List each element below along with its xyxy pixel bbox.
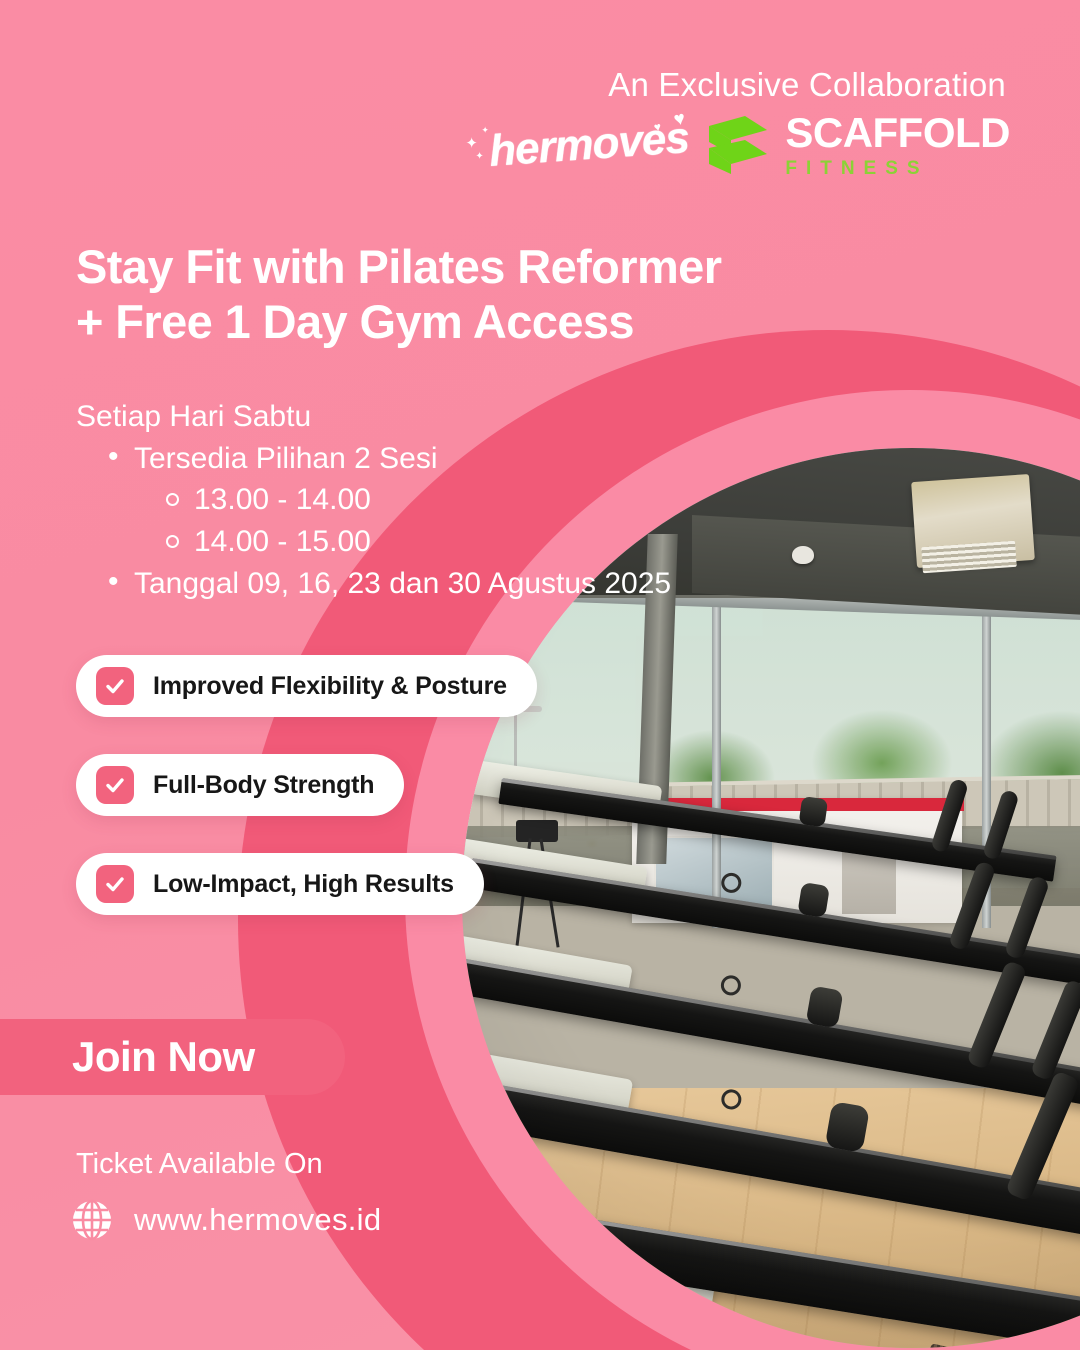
sparkle-icon: ✦: [465, 136, 478, 151]
schedule-item: Tersedia Pilihan 2 Sesi 13.00 - 14.00 14…: [104, 440, 671, 562]
poster-canvas: An Exclusive Collaboration ✦ ✦ ✦ hermove…: [0, 0, 1080, 1350]
partner-logos: ✦ ✦ ✦ hermoves ♥ ♥ SCAFFOLD FITNESS: [465, 112, 1010, 178]
schedule-item: Tanggal 09, 16, 23 dan 30 Agustus 2025: [104, 565, 671, 603]
benefits-list: Improved Flexibility & Posture Full-Body…: [76, 655, 537, 952]
hermoves-logo: ✦ ✦ ✦ hermoves ♥ ♥: [465, 114, 683, 176]
scaffold-subtitle: FITNESS: [785, 159, 1010, 178]
headline-line-1: Stay Fit with Pilates Reformer: [76, 240, 721, 295]
schedule-item-label: Tersedia Pilihan 2 Sesi: [134, 442, 438, 475]
benefit-label: Improved Flexibility & Posture: [153, 672, 507, 701]
schedule-sublist: 13.00 - 14.00 14.00 - 15.00: [160, 480, 671, 561]
benefit-pill: Improved Flexibility & Posture: [76, 655, 537, 717]
website-url: www.hermoves.id: [134, 1202, 381, 1238]
website-row[interactable]: www.hermoves.id: [70, 1198, 381, 1242]
benefit-pill: Full-Body Strength: [76, 754, 404, 816]
check-icon: [96, 766, 134, 804]
sparkle-icon: ✦: [475, 152, 483, 162]
scaffold-wordmark: SCAFFOLD: [785, 112, 1010, 154]
schedule-list: Tersedia Pilihan 2 Sesi 13.00 - 14.00 14…: [104, 440, 671, 603]
headline-line-2: + Free 1 Day Gym Access: [76, 295, 721, 350]
scaffold-logo: SCAFFOLD FITNESS: [705, 112, 1010, 178]
schedule-item-label: Tanggal 09, 16, 23 dan 30 Agustus 2025: [134, 567, 671, 600]
ticket-available-label: Ticket Available On: [76, 1148, 323, 1181]
join-now-button[interactable]: Join Now: [0, 1019, 345, 1095]
collab-title: An Exclusive Collaboration: [608, 66, 1006, 104]
schedule-subitem: 14.00 - 15.00: [160, 522, 671, 561]
join-now-label: Join Now: [72, 1033, 255, 1081]
scaffold-chevron-icon: [705, 114, 771, 176]
page-title: Stay Fit with Pilates Reformer + Free 1 …: [76, 240, 721, 349]
benefit-label: Full-Body Strength: [153, 771, 374, 800]
benefit-label: Low-Impact, High Results: [153, 870, 454, 899]
schedule-block: Setiap Hari Sabtu Tersedia Pilihan 2 Ses…: [76, 398, 671, 603]
check-icon: [96, 865, 134, 903]
schedule-subitem: 13.00 - 14.00: [160, 480, 671, 519]
check-icon: [96, 667, 134, 705]
benefit-pill: Low-Impact, High Results: [76, 853, 484, 915]
schedule-heading: Setiap Hari Sabtu: [76, 398, 671, 436]
globe-icon: [70, 1198, 114, 1242]
